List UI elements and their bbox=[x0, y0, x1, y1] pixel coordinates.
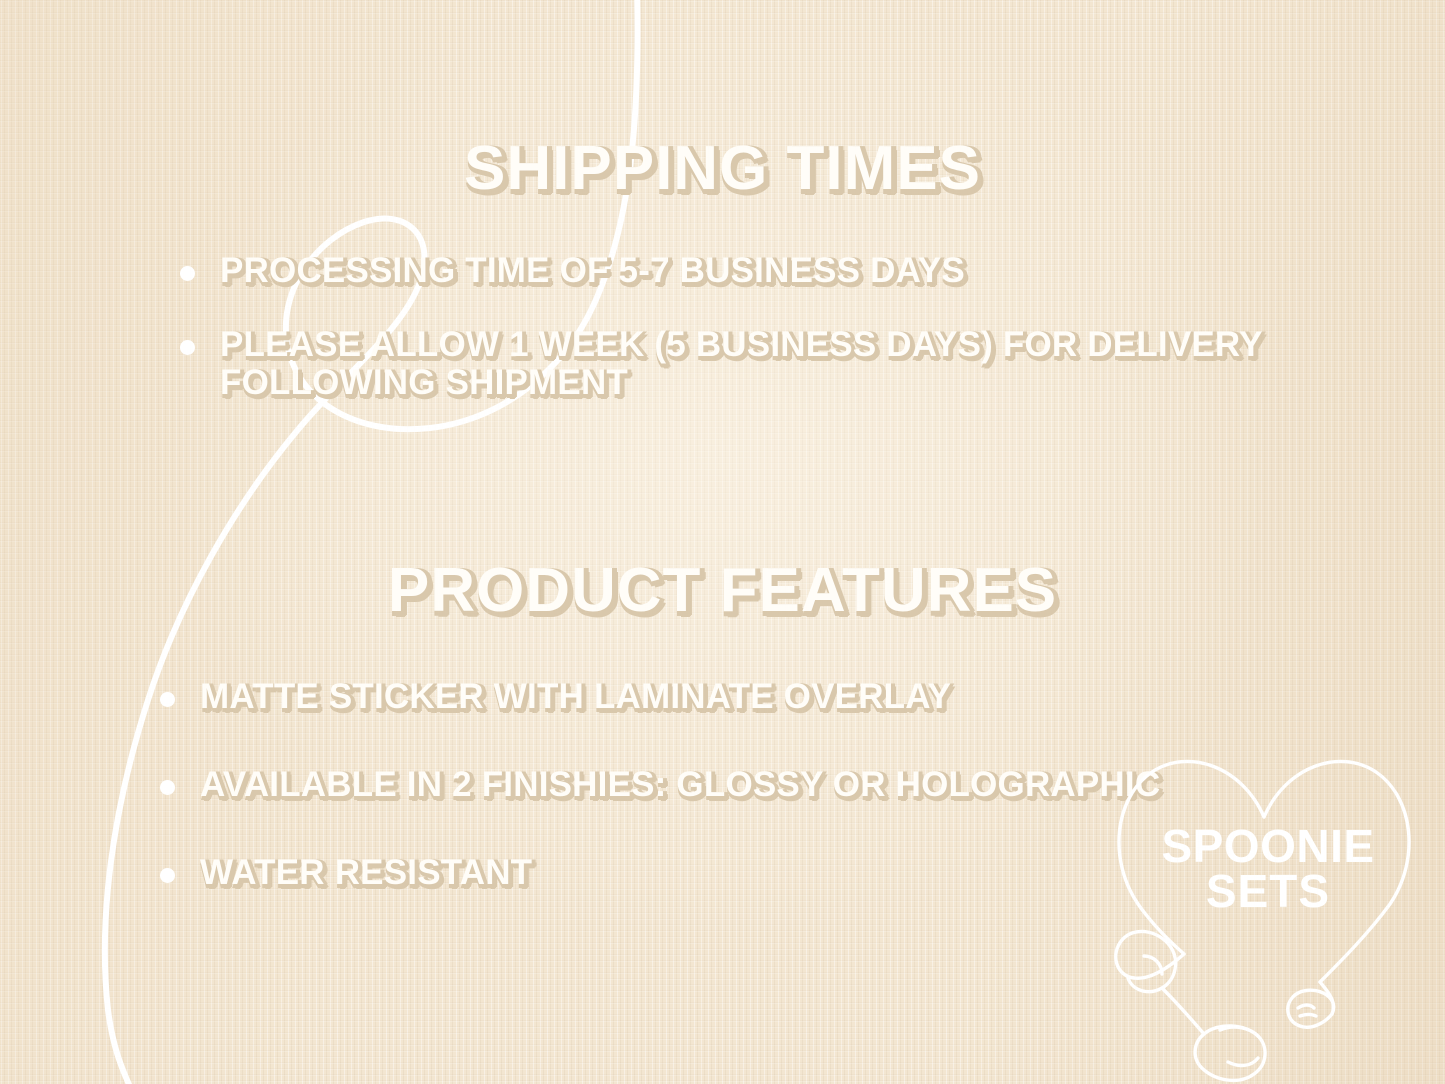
list-item: WATER RESISTANT bbox=[148, 854, 1218, 892]
shipping-times-heading: SHIPPING TIMES bbox=[0, 138, 1445, 200]
list-item: PLEASE ALLOW 1 WEEK (5 BUSINESS DAYS) FO… bbox=[168, 326, 1368, 402]
logo-line-2: SETS bbox=[1092, 869, 1444, 914]
brand-logo: SPOONIE SETS bbox=[1092, 742, 1444, 1084]
product-features-heading: PRODUCT FEATURES bbox=[0, 560, 1445, 622]
shipping-times-list: PROCESSING TIME OF 5-7 BUSINESS DAYS PLE… bbox=[168, 252, 1368, 437]
list-item: AVAILABLE IN 2 FINISHIES: GLOSSY OR HOLO… bbox=[148, 766, 1218, 804]
list-item: MATTE STICKER WITH LAMINATE OVERLAY bbox=[148, 678, 1218, 716]
list-item: PROCESSING TIME OF 5-7 BUSINESS DAYS bbox=[168, 252, 1368, 290]
product-features-list: MATTE STICKER WITH LAMINATE OVERLAY AVAI… bbox=[148, 678, 1218, 941]
poster-canvas: SHIPPING TIMES PROCESSING TIME OF 5-7 BU… bbox=[0, 0, 1445, 1084]
poster-content: SHIPPING TIMES PROCESSING TIME OF 5-7 BU… bbox=[0, 0, 1445, 1084]
logo-wordmark: SPOONIE SETS bbox=[1092, 824, 1444, 914]
logo-line-1: SPOONIE bbox=[1092, 824, 1444, 869]
